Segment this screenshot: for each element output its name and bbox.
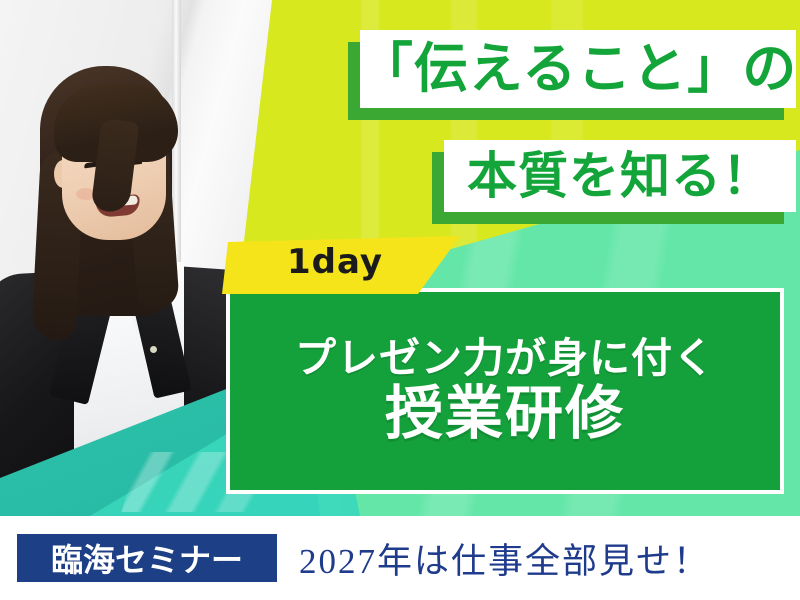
duration-badge-label: 1day (287, 242, 383, 282)
headline-1-text: 「伝えること」の (359, 42, 797, 96)
poster: 「伝えること」の 本質を知る！ 1day プレゼン力が身に付く 授業研修 臨海セ… (0, 0, 800, 600)
footer-bar: 臨海セミナー 2027年は仕事全部見せ！ (0, 516, 800, 600)
poster-visual-area: 「伝えること」の 本質を知る！ 1day プレゼン力が身に付く 授業研修 (0, 0, 800, 516)
headline-1: 「伝えること」の (360, 30, 796, 108)
duration-badge: 1day (222, 236, 460, 294)
brand-name: 臨海セミナー (51, 535, 243, 581)
course-subtitle: プレゼン力が身に付く (295, 337, 715, 380)
headline-2-text: 本質を知る！ (467, 151, 773, 201)
course-title: 授業研修 (385, 384, 625, 445)
course-title-box: プレゼン力が身に付く 授業研修 (226, 288, 784, 494)
footer-tagline: 2027年は仕事全部見せ！ (299, 533, 710, 584)
headline-2: 本質を知る！ (444, 140, 796, 212)
brand-logo-box: 臨海セミナー (17, 534, 277, 582)
photo-lapel-pin (150, 346, 157, 353)
